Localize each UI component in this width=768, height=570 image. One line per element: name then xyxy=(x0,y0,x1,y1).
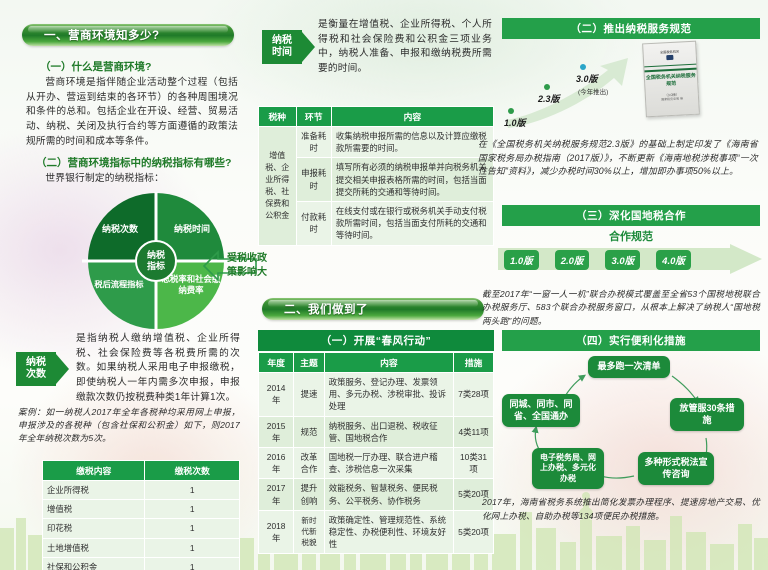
table-row: 土地增值税 1 xyxy=(43,538,240,557)
cooperation-norm-title: 合作规范 xyxy=(502,228,760,244)
cell-name: 社保和公积金 xyxy=(43,557,145,570)
cell-name: 增值税 xyxy=(43,500,145,519)
cell-theme: 提速 xyxy=(294,373,325,417)
tax-frequency-tag-line-1: 纳税 xyxy=(26,357,46,369)
cooperation-description: 截至2017年“一窗一人一机”联合办税模式覆盖至全省53个国税地税联合办税服务厅… xyxy=(482,288,760,328)
cell-step: 付款耗时 xyxy=(296,201,331,245)
coop-version-4: 4.0版 xyxy=(656,250,691,270)
tax-time-breakdown-table: 税种 环节 内容 增值税、企业所得税、社保费和公积金 准备耗时 收集纳税申报所需… xyxy=(258,106,494,246)
cell-measures: 4类11项 xyxy=(454,416,494,447)
version-label-3: 3.0版 xyxy=(576,72,598,85)
convenience-measures-diagram: 最多跑一次清单 同城、同市、同省、全国通办 电子税务局、网上办税、多元化办税 放… xyxy=(496,350,768,485)
convenience-measures-description: 2017年，海南省税务系统推出简化发票办理程序、提速房地产交易、优化网上办税、自… xyxy=(482,496,760,524)
book-strip xyxy=(645,68,697,73)
cell-content: 效能税务、智慧税务、便民税务、公平税务、协作税务 xyxy=(324,479,453,510)
book-image: 全国税务机关 全国税务机关纳税服务规范 （3.0版） 国家税务总局 编 xyxy=(642,41,700,118)
book-emblem-icon xyxy=(666,55,673,60)
cell-tax-kind: 增值税、企业所得税、社保费和公积金 xyxy=(259,127,297,246)
cell-measures: 10类31项 xyxy=(454,447,494,478)
cell-count: 1 xyxy=(145,481,240,500)
table-row: 社保和公积金 1 xyxy=(43,557,240,570)
th-content: 缴税内容 xyxy=(43,461,145,481)
th-measures: 措施 xyxy=(454,353,494,373)
left-column: 一、营商环境知多少? （一）什么是营商环境? 营商环境是指伴随企业活动整个过程（… xyxy=(0,0,256,570)
th-tax-kind: 税种 xyxy=(259,107,297,127)
subsection-2-4-title: （四）实行便利化措施 xyxy=(502,330,760,351)
table-row: 增值税、企业所得税、社保费和公积金 准备耗时 收集纳税申报所需的信息以及计算应缴… xyxy=(259,127,494,158)
cell-content: 政策确定性、管理规范性、系统稳定性、办税便利性、环境友好性 xyxy=(324,510,453,554)
tax-time-tag: 纳税 时间 xyxy=(262,30,302,64)
cell-count: 1 xyxy=(145,557,240,570)
service-norm-version-progression: 1.0版 2.3版 3.0版 (今年推出) xyxy=(500,44,640,130)
middle-column: 纳税 时间 是衡量在增值税、企业所得税、个人所得税和社会保险费和公积金三项业务中… xyxy=(256,0,496,570)
table-header-row: 年度 主题 内容 措施 xyxy=(259,353,494,373)
cell-measures: 7类28项 xyxy=(454,373,494,417)
table-row: 2016年 改革合作 国地税一厅办理、联合进户稽查、涉税信息一次采集 10类31… xyxy=(259,447,494,478)
bubble-nationwide-service: 同城、同市、同省、全国通办 xyxy=(502,394,580,427)
donut-center-line-1: 纳税 xyxy=(147,250,165,261)
version-dot-3 xyxy=(580,64,586,70)
cell-step: 申报耗时 xyxy=(296,158,331,202)
bubble-tax-law-promotion: 多种形式税法宣传咨询 xyxy=(638,452,714,485)
cell-year: 2016年 xyxy=(259,447,294,478)
cell-theme: 规范 xyxy=(294,416,325,447)
cell-year: 2015年 xyxy=(259,416,294,447)
table-row: 2015年 规范 纳税服务、出口退税、税收征管、国地税合作 4类11项 xyxy=(259,416,494,447)
bubble-run-once-list: 最多跑一次清单 xyxy=(588,356,670,378)
cell-count: 1 xyxy=(145,519,240,538)
cell-name: 印花税 xyxy=(43,519,145,538)
donut-quadrant-label-2: 纳税时间 xyxy=(159,224,225,235)
donut-quadrant-label-3: 税后流程指标 xyxy=(86,280,152,290)
subsection-2-3-title: （三）深化国地税合作 xyxy=(502,205,760,226)
section-header-one: 一、营商环境知多少? xyxy=(22,24,234,46)
cell-count: 1 xyxy=(145,538,240,557)
book-title: 全国税务机关纳税服务规范 xyxy=(645,73,698,89)
tax-frequency-description: 是指纳税人缴纳增值税、企业所得税、社会保险费等各税费所需的次数。如果纳税人采用电… xyxy=(76,332,240,406)
cell-name: 土地增值税 xyxy=(43,538,145,557)
tax-payment-count-table: 缴税内容 缴税次数 企业所得税 1 增值税 1 印花税 1 土地增值 xyxy=(42,460,240,570)
cell-name: 企业所得税 xyxy=(43,481,145,500)
cell-content: 政策服务、登记办理、发票领用、多元办税、涉税审批、投诉处理 xyxy=(324,373,453,417)
table-header-row: 税种 环节 内容 xyxy=(259,107,494,127)
th-theme: 主题 xyxy=(294,353,325,373)
cell-content: 在线支付或在银行或税务机关手动支付税款所需时间，包括当面支付所耗的交通和等待时间… xyxy=(331,201,493,245)
cell-content: 纳税服务、出口退税、税收征管、国地税合作 xyxy=(324,416,453,447)
service-norm-description: 在《全国税务机关纳税服务规范2.3版》的基础上制定印发了《海南省国家税务局办税指… xyxy=(478,138,758,179)
tax-frequency-tag: 纳税 次数 xyxy=(16,352,56,386)
subsection-1-1-title: （一）什么是营商环境? xyxy=(40,59,238,74)
version-dot-1 xyxy=(508,108,514,114)
spring-breeze-table-title: （一）开展“春风行动” xyxy=(258,330,494,351)
cell-step: 准备耗时 xyxy=(296,127,331,158)
tax-policy-callout: 受税收政 策影响大 xyxy=(188,244,258,288)
right-column: （二）推出纳税服务规范 1.0版 2.3版 3.0版 (今年推出) 全国税务机关… xyxy=(496,0,768,570)
cell-content: 收集纳税申报所需的信息以及计算应缴税款所需要的时间。 xyxy=(331,127,493,158)
donut-center-label: 纳税 指标 xyxy=(135,240,177,282)
tax-frequency-tag-body: 纳税 次数 xyxy=(16,352,56,386)
subsection-1-2-text: 世界银行制定的纳税指标： xyxy=(26,172,238,187)
coop-version-2: 2.0版 xyxy=(555,250,590,270)
version-label-2: 2.3版 xyxy=(538,92,560,105)
service-norm-book-cover: 全国税务机关 全国税务机关纳税服务规范 （3.0版） 国家税务总局 编 xyxy=(644,42,698,116)
table-row: 2018年 新时代新税貌 政策确定性、管理规范性、系统稳定性、办税便利性、环境友… xyxy=(259,510,494,554)
table-row: 印花税 1 xyxy=(43,519,240,538)
tax-time-tag-line-1: 纳税 xyxy=(272,35,292,47)
coop-version-1: 1.0版 xyxy=(504,250,539,270)
version-dot-2 xyxy=(544,84,550,90)
tax-time-tag-line-2: 时间 xyxy=(272,47,292,59)
cell-year: 2014年 xyxy=(259,373,294,417)
cell-theme: 新时代新税貌 xyxy=(294,510,325,554)
th-content: 内容 xyxy=(324,353,453,373)
coop-version-3: 3.0版 xyxy=(605,250,640,270)
th-count: 缴税次数 xyxy=(145,461,240,481)
table-row: 增值税 1 xyxy=(43,500,240,519)
section-header-two: 二、我们做到了 xyxy=(262,298,484,320)
th-step: 环节 xyxy=(296,107,331,127)
th-content: 内容 xyxy=(331,107,493,127)
cell-year: 2018年 xyxy=(259,510,294,554)
cell-theme: 改革合作 xyxy=(294,447,325,478)
cooperation-version-arrow: 1.0版 2.0版 3.0版 4.0版 xyxy=(498,244,762,274)
table-header-row: 缴税内容 缴税次数 xyxy=(43,461,240,481)
subsection-1-2-title: （二）营商环境指标中的纳税指标有哪些? xyxy=(36,155,238,170)
tax-time-tag-body: 纳税 时间 xyxy=(262,30,302,64)
spring-breeze-action-table: 年度 主题 内容 措施 2014年 提速 政策服务、登记办理、发票领用、多元办税… xyxy=(258,352,494,554)
cell-theme: 提升创响 xyxy=(294,479,325,510)
cell-year: 2017年 xyxy=(259,479,294,510)
table-row: 企业所得税 1 xyxy=(43,481,240,500)
cell-count: 1 xyxy=(145,500,240,519)
cell-content: 填写所有必须的纳税申报单并向税务机关提交相关申报表格所需的时间，包括当面提交所耗… xyxy=(331,158,493,202)
version-sublabel-3: (今年推出) xyxy=(578,86,608,96)
book-strip-thin xyxy=(644,64,696,68)
donut-quadrant-label-1: 纳税次数 xyxy=(87,224,153,235)
cell-content: 国地税一厅办理、联合进户稽查、涉税信息一次采集 xyxy=(324,447,453,478)
subsection-1-1-text: 营商环境是指伴随企业活动整个过程（包括从开办、营运到结束的各环节）的各种周围境况… xyxy=(26,76,238,150)
bubble-etax-bureau: 电子税务局、网上办税、多元化办税 xyxy=(532,448,604,489)
subsection-2-2-title: （二）推出纳税服务规范 xyxy=(502,18,760,39)
donut-center-line-2: 指标 xyxy=(147,261,165,272)
tax-frequency-case-text: 案例：如一纳税人2017年全年各税种均采用网上申报，申报涉及的各税种（包含社保和… xyxy=(18,406,240,445)
version-label-1: 1.0版 xyxy=(504,116,526,129)
tax-frequency-tag-line-2: 次数 xyxy=(26,369,46,381)
table-row: 2017年 提升创响 效能税务、智慧税务、便民税务、公平税务、协作税务 5类20… xyxy=(259,479,494,510)
table-row: 2014年 提速 政策服务、登记办理、发票领用、多元办税、涉税审批、投诉处理 7… xyxy=(259,373,494,417)
tax-time-description: 是衡量在增值税、企业所得税、个人所得税和社会保险费和公积金三项业务中，纳税人准备… xyxy=(318,18,492,77)
bubble-30-measures: 放管服30条措施 xyxy=(670,398,744,431)
th-year: 年度 xyxy=(259,353,294,373)
